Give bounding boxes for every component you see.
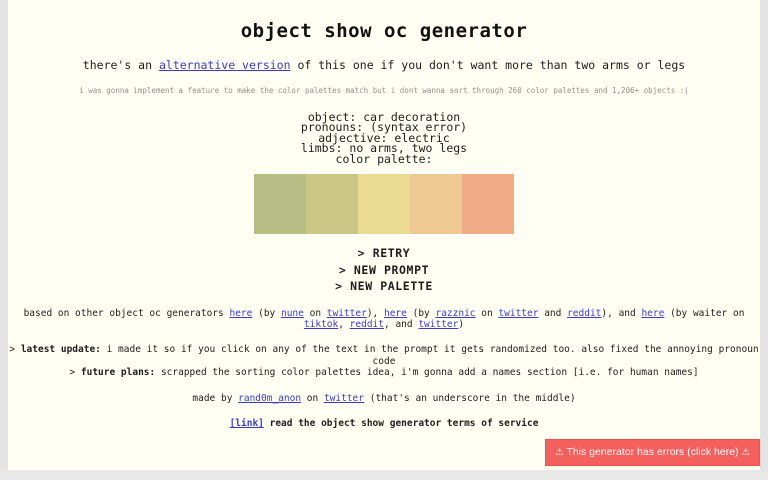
palette-swatch-2[interactable] [306, 174, 358, 234]
credits-and3: , and [384, 319, 418, 330]
credits-by1-open: (by [252, 308, 281, 319]
alternative-version-link[interactable]: alternative version [159, 58, 291, 72]
page-left-margin [0, 0, 8, 470]
credits-twitter-link-2[interactable]: twitter [498, 308, 538, 319]
credits-on1: on [304, 308, 327, 319]
error-banner[interactable]: ⚠ This generator has errors (click here)… [545, 439, 760, 466]
palette-disclaimer-text: i was gonna implement a feature to make … [79, 86, 689, 95]
terms-of-service-line: [link] read the object show generator te… [8, 418, 760, 429]
palette-wrapper [8, 174, 760, 234]
terms-of-service-text: read the object show generator terms of … [264, 418, 539, 429]
credits-by2-open: (by [407, 308, 436, 319]
new-palette-button[interactable]: > NEW PALETTE [335, 279, 433, 293]
credits-reddit-link-3[interactable]: reddit [350, 319, 384, 330]
page-viewport: object show oc generator there's an alte… [8, 0, 760, 470]
prompt-row-palette-label: color palette: [8, 154, 760, 165]
credits-twitter-link-1[interactable]: twitter [327, 308, 367, 319]
new-prompt-row: > NEW PROMPT [8, 262, 760, 279]
error-banner-text: This generator has errors (click here) [566, 446, 738, 458]
credits-close1: ), [367, 308, 384, 319]
credits-paragraph: based on other object oc generators here… [8, 308, 760, 331]
page-right-margin [760, 0, 768, 470]
made-by-twitter-link[interactable]: twitter [324, 393, 364, 404]
future-plans-text: scrapped the sorting color palettes idea… [155, 367, 698, 378]
palette-swatch-4[interactable] [410, 174, 462, 234]
palette-swatch-5[interactable] [462, 174, 514, 234]
palette-disclaimer-note: i was gonna implement a feature to make … [8, 87, 760, 95]
retry-button[interactable]: > RETRY [358, 246, 411, 260]
credits-tiktok-link[interactable]: tiktok [304, 319, 338, 330]
made-by-prefix: made by [192, 393, 238, 404]
made-by-author-link[interactable]: rand0m_anon [238, 393, 301, 404]
credits-razznic-link[interactable]: razznic [435, 308, 475, 319]
browser-page: object show oc generator there's an alte… [0, 0, 768, 480]
new-palette-row: > NEW PALETTE [8, 278, 760, 295]
alt-note-prefix: there's an [83, 58, 159, 72]
latest-update-label: latest update: [21, 344, 101, 355]
credits-here-link-1[interactable]: here [229, 308, 252, 319]
made-by-suffix: (that's an underscore in the middle) [364, 393, 576, 404]
page-bottom-margin [0, 470, 768, 480]
credits-comma3: , [338, 319, 349, 330]
updates-block: > latest update: i made it so if you cli… [8, 344, 760, 378]
page-content: object show oc generator there's an alte… [8, 0, 760, 430]
latest-update-text: i made it so if you click on any of the … [101, 344, 759, 366]
action-buttons: > RETRY > NEW PROMPT > NEW PALETTE [8, 245, 760, 295]
made-by-middle: on [301, 393, 324, 404]
alternative-version-note: there's an alternative version of this o… [8, 59, 760, 71]
credits-here-link-3[interactable]: here [641, 308, 664, 319]
credits-by3-open: (by waiter on [664, 308, 744, 319]
latest-update-row: > latest update: i made it so if you cli… [8, 344, 760, 367]
retry-row: > RETRY [8, 245, 760, 262]
alt-note-suffix: of this one if you don't want more than … [291, 58, 686, 72]
prompt-label-palette: color palette: [336, 152, 433, 166]
color-palette[interactable] [254, 174, 514, 234]
new-prompt-button[interactable]: > NEW PROMPT [339, 263, 429, 277]
credits-lead: based on other object oc generators [24, 308, 230, 319]
credits-and2: and [538, 308, 567, 319]
credits-close2: ), and [601, 308, 641, 319]
warning-triangle-icon-left: ⚠ [555, 447, 564, 458]
credits-close3: ) [458, 319, 464, 330]
palette-swatch-3[interactable] [358, 174, 410, 234]
credits-on2: on [476, 308, 499, 319]
terms-of-service-link[interactable]: [link] [230, 418, 264, 429]
page-title: object show oc generator [8, 18, 760, 46]
credits-reddit-link-2[interactable]: reddit [567, 308, 601, 319]
made-by-line: made by rand0m_anon on twitter (that's a… [8, 393, 760, 404]
credits-twitter-link-3[interactable]: twitter [418, 319, 458, 330]
update-marker-1: > [9, 344, 15, 355]
future-plans-row: > future plans: scrapped the sorting col… [8, 367, 760, 378]
future-plans-label: future plans: [81, 367, 155, 378]
palette-swatch-1[interactable] [254, 174, 306, 234]
credits-here-link-2[interactable]: here [384, 308, 407, 319]
update-marker-2: > [69, 367, 75, 378]
oc-prompt-block: object: car decoration pronouns: (syntax… [8, 112, 760, 165]
credits-nune-link[interactable]: nune [281, 308, 304, 319]
warning-triangle-icon-right: ⚠ [741, 447, 750, 458]
